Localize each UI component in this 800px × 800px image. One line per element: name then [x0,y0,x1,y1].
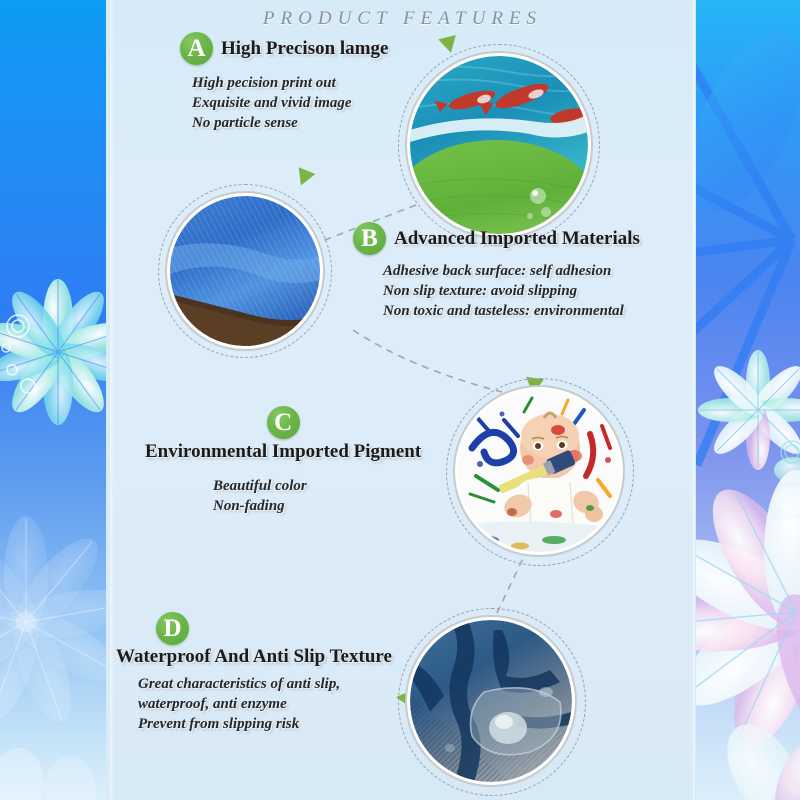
feature-c-line-2: Non-fading [213,497,421,517]
feature-d-lines: Great characteristics of anti slip, wate… [138,675,392,734]
feature-c-lines: Beautiful color Non-fading [213,477,421,517]
photo-baby-painting [458,390,620,552]
feature-a-line-2: Exquisite and vivid image [192,94,388,114]
right-band-flowers [696,0,800,800]
badge-d: D [156,612,189,645]
content-panel: PRODUCT FEATURES [110,0,695,800]
feature-b-line-2: Non slip texture: avoid slipping [383,282,640,302]
badge-b: B [353,222,386,255]
feature-a-lines: High pecision print out Exquisite and vi… [192,74,388,133]
photo-blue-ribbed-fabric [170,196,320,346]
feature-b-line-1: Adhesive back surface: self adhesion [383,262,640,282]
photo-water-droplet-texture [410,620,572,782]
product-features-infographic: PRODUCT FEATURES [0,0,800,800]
connector-b-to-c [353,330,502,392]
feature-c-line-1: Beautiful color [213,477,421,497]
feature-block-a: A High Precison lamge High pecision prin… [180,32,388,133]
feature-c-title: Environmental Imported Pigment [145,441,421,463]
feature-d-heading: D Waterproof And Anti Slip Texture [110,612,392,668]
feature-b-line-3: Non toxic and tasteless: environmental [383,302,640,322]
feature-a-heading: A High Precison lamge [180,32,388,65]
feature-block-c: C Environmental Imported Pigment Beautif… [145,406,421,517]
feature-a-line-3: No particle sense [192,114,388,134]
feature-block-d: D Waterproof And Anti Slip Texture Great… [110,612,392,734]
feature-d-title: Waterproof And Anti Slip Texture [116,646,392,668]
page-title: PRODUCT FEATURES [110,8,695,30]
feature-block-b: B Advanced Imported Materials Adhesive b… [353,222,640,321]
arrow-to-photo-b [293,167,316,189]
badge-c: C [267,406,300,439]
left-floral-border [0,0,106,800]
feature-d-line-1: Great characteristics of anti slip, [138,675,392,695]
feature-a-title: High Precison lamge [221,38,388,60]
feature-d-line-2: waterproof, anti enzyme [138,695,392,715]
feature-b-heading: B Advanced Imported Materials [353,222,640,255]
panel-right-highlight [691,0,695,800]
right-floral-border [696,0,800,800]
photo-koi-fish-pond [410,56,588,234]
left-band-flowers [0,0,106,800]
feature-b-lines: Adhesive back surface: self adhesion Non… [383,262,640,321]
badge-a: A [180,32,213,65]
feature-a-line-1: High pecision print out [192,74,388,94]
feature-d-line-3: Prevent from slipping risk [138,715,392,735]
feature-c-heading: C Environmental Imported Pigment [145,406,421,463]
feature-b-title: Advanced Imported Materials [394,228,640,250]
